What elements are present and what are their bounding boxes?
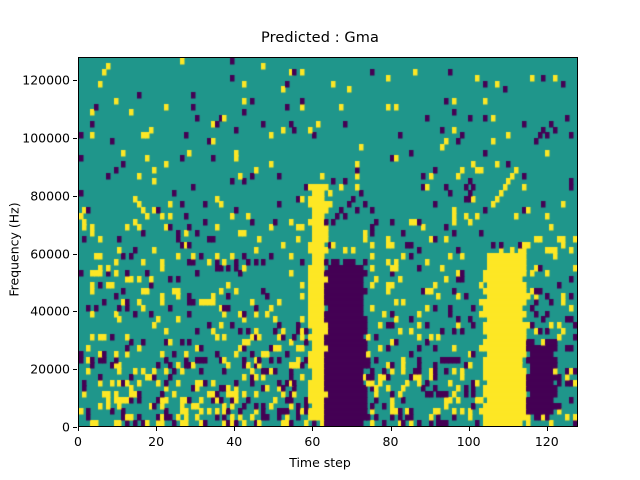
y-tick-label: 80000	[0, 188, 70, 203]
heatmap-plot-area	[78, 57, 578, 427]
y-tick-mark	[73, 427, 77, 428]
y-tick-mark	[73, 254, 77, 255]
x-tick-label: 20	[148, 434, 164, 449]
x-tick-label: 100	[457, 434, 481, 449]
y-tick-label: 40000	[0, 304, 70, 319]
x-tick-mark	[547, 427, 548, 431]
y-tick-label: 120000	[0, 73, 70, 88]
x-tick-label: 40	[226, 434, 242, 449]
x-tick-mark	[234, 427, 235, 431]
y-tick-label: 0	[0, 420, 70, 435]
matplotlib-figure: Predicted : Gma Frequency (Hz) Time step…	[0, 0, 640, 480]
x-tick-mark	[78, 427, 79, 431]
y-tick-mark	[73, 80, 77, 81]
y-tick-mark	[73, 311, 77, 312]
y-tick-mark	[73, 369, 77, 370]
x-tick-mark	[469, 427, 470, 431]
x-tick-label: 80	[383, 434, 399, 449]
y-tick-label: 60000	[0, 246, 70, 261]
y-tick-label: 20000	[0, 362, 70, 377]
y-tick-mark	[73, 138, 77, 139]
x-axis-title: Time step	[0, 455, 640, 470]
x-tick-label: 120	[535, 434, 559, 449]
x-tick-mark	[156, 427, 157, 431]
y-tick-mark	[73, 196, 77, 197]
y-tick-label: 100000	[0, 130, 70, 145]
x-tick-label: 0	[74, 434, 82, 449]
x-tick-mark	[391, 427, 392, 431]
x-tick-label: 60	[304, 434, 320, 449]
chart-title: Predicted : Gma	[0, 30, 640, 46]
heatmap-canvas	[79, 58, 577, 426]
x-tick-mark	[312, 427, 313, 431]
